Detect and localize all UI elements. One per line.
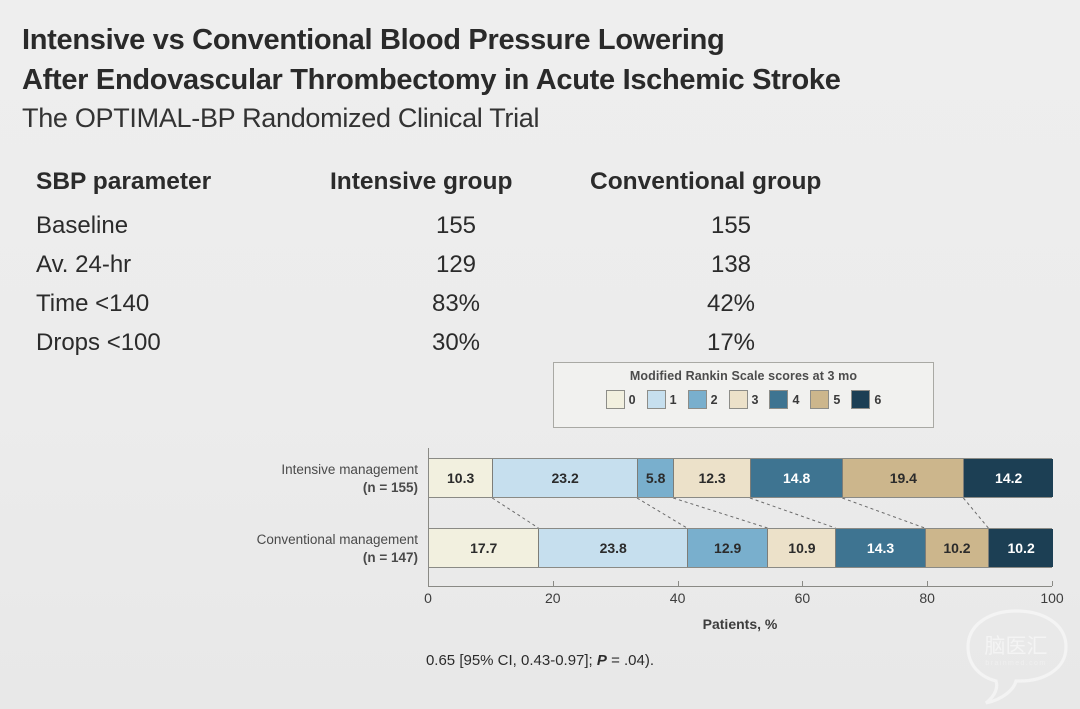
- bar-segment-mrs-5: 19.4: [843, 459, 964, 497]
- bar-segment-mrs-6: 14.2: [964, 459, 1053, 497]
- legend-label: 3: [752, 393, 759, 407]
- x-axis-tick: [927, 581, 928, 586]
- bar-segment-mrs-1: 23.8: [539, 529, 688, 567]
- table-row: Av. 24-hr129138: [36, 246, 876, 285]
- table-cell-intensive: 129: [326, 246, 586, 285]
- legend-swatch-icon: [769, 390, 788, 409]
- bar-segment-mrs-3: 10.9: [768, 529, 836, 567]
- table-header-intensive: Intensive group: [326, 163, 586, 207]
- title-line-2: After Endovascular Thrombectomy in Acute…: [22, 60, 1022, 100]
- bar-row-label: Intensive management(n = 155): [218, 461, 418, 497]
- legend-label: 6: [874, 393, 881, 407]
- connector-line: [637, 498, 687, 528]
- x-axis-tick: [428, 581, 429, 586]
- legend-swatch-icon: [606, 390, 625, 409]
- x-axis-tick-label: 80: [919, 590, 935, 606]
- bar-segment-mrs-2: 12.9: [688, 529, 768, 567]
- sbp-parameter-table: SBP parameter Intensive group Convention…: [36, 163, 876, 363]
- legend-swatch-icon: [810, 390, 829, 409]
- legend-item-1: 1: [647, 390, 677, 409]
- table-row: Baseline155155: [36, 207, 876, 246]
- bar-segment-mrs-6: 10.2: [989, 529, 1053, 567]
- table-row: Drops <10030%17%: [36, 324, 876, 363]
- x-axis-tick: [553, 581, 554, 586]
- table-cell-conventional: 42%: [586, 285, 876, 324]
- table-cell-parameter: Time <140: [36, 285, 326, 324]
- bar-segment-mrs-5: 10.2: [926, 529, 990, 567]
- table-cell-parameter: Drops <100: [36, 324, 326, 363]
- x-axis-tick: [1052, 581, 1053, 586]
- table-header-conventional: Conventional group: [586, 163, 876, 207]
- legend-item-3: 3: [729, 390, 759, 409]
- table-cell-intensive: 155: [326, 207, 586, 246]
- slide: Intensive vs Conventional Blood Pressure…: [0, 0, 1080, 709]
- stacked-bar: 17.723.812.910.914.310.210.2: [428, 528, 1052, 568]
- legend-label: 0: [629, 393, 636, 407]
- bar-row-label-n: (n = 147): [218, 549, 418, 567]
- connector-line: [842, 498, 924, 528]
- x-axis-tick: [802, 581, 803, 586]
- connector-line: [673, 498, 767, 528]
- table-cell-conventional: 155: [586, 207, 876, 246]
- table-cell-conventional: 138: [586, 246, 876, 285]
- legend-label: 5: [833, 393, 840, 407]
- bar-segment-mrs-0: 17.7: [429, 529, 539, 567]
- table-cell-parameter: Av. 24-hr: [36, 246, 326, 285]
- legend-item-5: 5: [810, 390, 840, 409]
- title-line-1: Intensive vs Conventional Blood Pressure…: [22, 20, 1022, 60]
- bar-segment-mrs-2: 5.8: [638, 459, 674, 497]
- table-header-row: SBP parameter Intensive group Convention…: [36, 163, 876, 207]
- annotation-pre: 0.65 [95% CI, 0.43-0.97];: [426, 652, 597, 669]
- legend-label: 1: [670, 393, 677, 407]
- table-row: Time <14083%42%: [36, 285, 876, 324]
- legend-swatch-icon: [647, 390, 666, 409]
- annotation-post: = .04).: [607, 652, 654, 669]
- legend-title: Modified Rankin Scale scores at 3 mo: [554, 369, 933, 383]
- legend-item-4: 4: [769, 390, 799, 409]
- bar-segment-mrs-1: 23.2: [493, 459, 638, 497]
- connector-line: [492, 498, 538, 528]
- chart-annotation: 0.65 [95% CI, 0.43-0.97]; P = .04).: [0, 652, 1080, 669]
- table-cell-conventional: 17%: [586, 324, 876, 363]
- title-line-3: The OPTIMAL-BP Randomized Clinical Trial: [22, 100, 1022, 137]
- table-cell-intensive: 30%: [326, 324, 586, 363]
- chart-legend: Modified Rankin Scale scores at 3 mo 012…: [553, 362, 934, 428]
- legend-item-6: 6: [851, 390, 881, 409]
- bar-segment-mrs-4: 14.8: [751, 459, 843, 497]
- connector-line: [750, 498, 835, 528]
- legend-swatch-icon: [851, 390, 870, 409]
- bar-segment-mrs-3: 12.3: [674, 459, 751, 497]
- x-axis-line: [428, 586, 1052, 587]
- table-header-parameter: SBP parameter: [36, 163, 326, 207]
- connector-line: [963, 498, 988, 528]
- x-axis-tick-label: 20: [545, 590, 561, 606]
- table-cell-parameter: Baseline: [36, 207, 326, 246]
- bar-row-label: Conventional management(n = 147): [218, 531, 418, 567]
- annotation-p-italic: P: [597, 652, 607, 669]
- bar-row-label-group: Intensive management: [218, 461, 418, 479]
- x-axis-tick: [678, 581, 679, 586]
- legend-item-2: 2: [688, 390, 718, 409]
- bar-segment-mrs-4: 14.3: [836, 529, 925, 567]
- legend-items: 0123456: [554, 390, 933, 409]
- legend-swatch-icon: [729, 390, 748, 409]
- bar-row-label-group: Conventional management: [218, 531, 418, 549]
- bar-segment-mrs-0: 10.3: [429, 459, 493, 497]
- legend-label: 2: [711, 393, 718, 407]
- legend-item-0: 0: [606, 390, 636, 409]
- x-axis-title: Patients, %: [703, 616, 778, 632]
- x-axis-tick-label: 100: [1040, 590, 1063, 606]
- stacked-bar: 10.323.25.812.314.819.414.2: [428, 458, 1052, 498]
- x-axis-tick-label: 0: [424, 590, 432, 606]
- bar-row-label-n: (n = 155): [218, 479, 418, 497]
- table-cell-intensive: 83%: [326, 285, 586, 324]
- y-axis-line: [428, 448, 429, 586]
- x-axis-tick-label: 60: [795, 590, 811, 606]
- x-axis-tick-label: 40: [670, 590, 686, 606]
- page-title: Intensive vs Conventional Blood Pressure…: [22, 20, 1022, 137]
- legend-swatch-icon: [688, 390, 707, 409]
- legend-label: 4: [792, 393, 799, 407]
